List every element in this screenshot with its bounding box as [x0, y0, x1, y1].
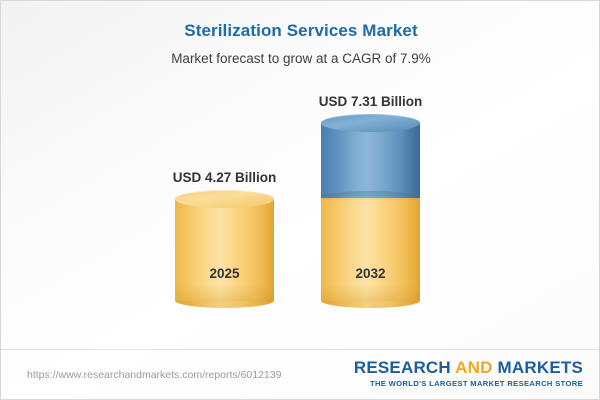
source-url[interactable]: https://www.researchandmarkets.com/repor… — [27, 369, 281, 381]
footer: https://www.researchandmarkets.com/repor… — [1, 350, 600, 399]
value-label-2025: USD 4.27 Billion — [173, 170, 277, 185]
brand-word-research: RESEARCH — [354, 358, 455, 377]
cylinder-top-cap — [321, 114, 420, 132]
brand-word-and: AND — [455, 358, 492, 377]
chart-card: Sterilization Services Market Market for… — [0, 0, 600, 400]
segment-seam — [321, 191, 420, 205]
value-label-2032: USD 7.31 Billion — [319, 94, 423, 109]
brand-word-markets: MARKETS — [493, 358, 583, 377]
brand-logo[interactable]: RESEARCH AND MARKETS THE WORLD'S LARGEST… — [354, 359, 583, 388]
brand-tagline: THE WORLD'S LARGEST MARKET RESEARCH STOR… — [354, 379, 583, 388]
cylinder-bar-2025[interactable] — [175, 198, 274, 301]
segment-base-2025 — [175, 198, 274, 301]
segment-base-2032 — [321, 198, 420, 301]
cylinder-top-cap — [175, 190, 274, 208]
cylinder-body — [175, 198, 274, 301]
x-axis-label-2025: 2025 — [209, 266, 239, 281]
x-axis-label-2032: 2032 — [355, 266, 385, 281]
segment-growth-2032 — [321, 122, 420, 198]
brand-name: RESEARCH AND MARKETS — [354, 359, 583, 377]
plot-area: USD 4.27 Billion 2025 USD 7.31 Billion — [1, 1, 600, 349]
